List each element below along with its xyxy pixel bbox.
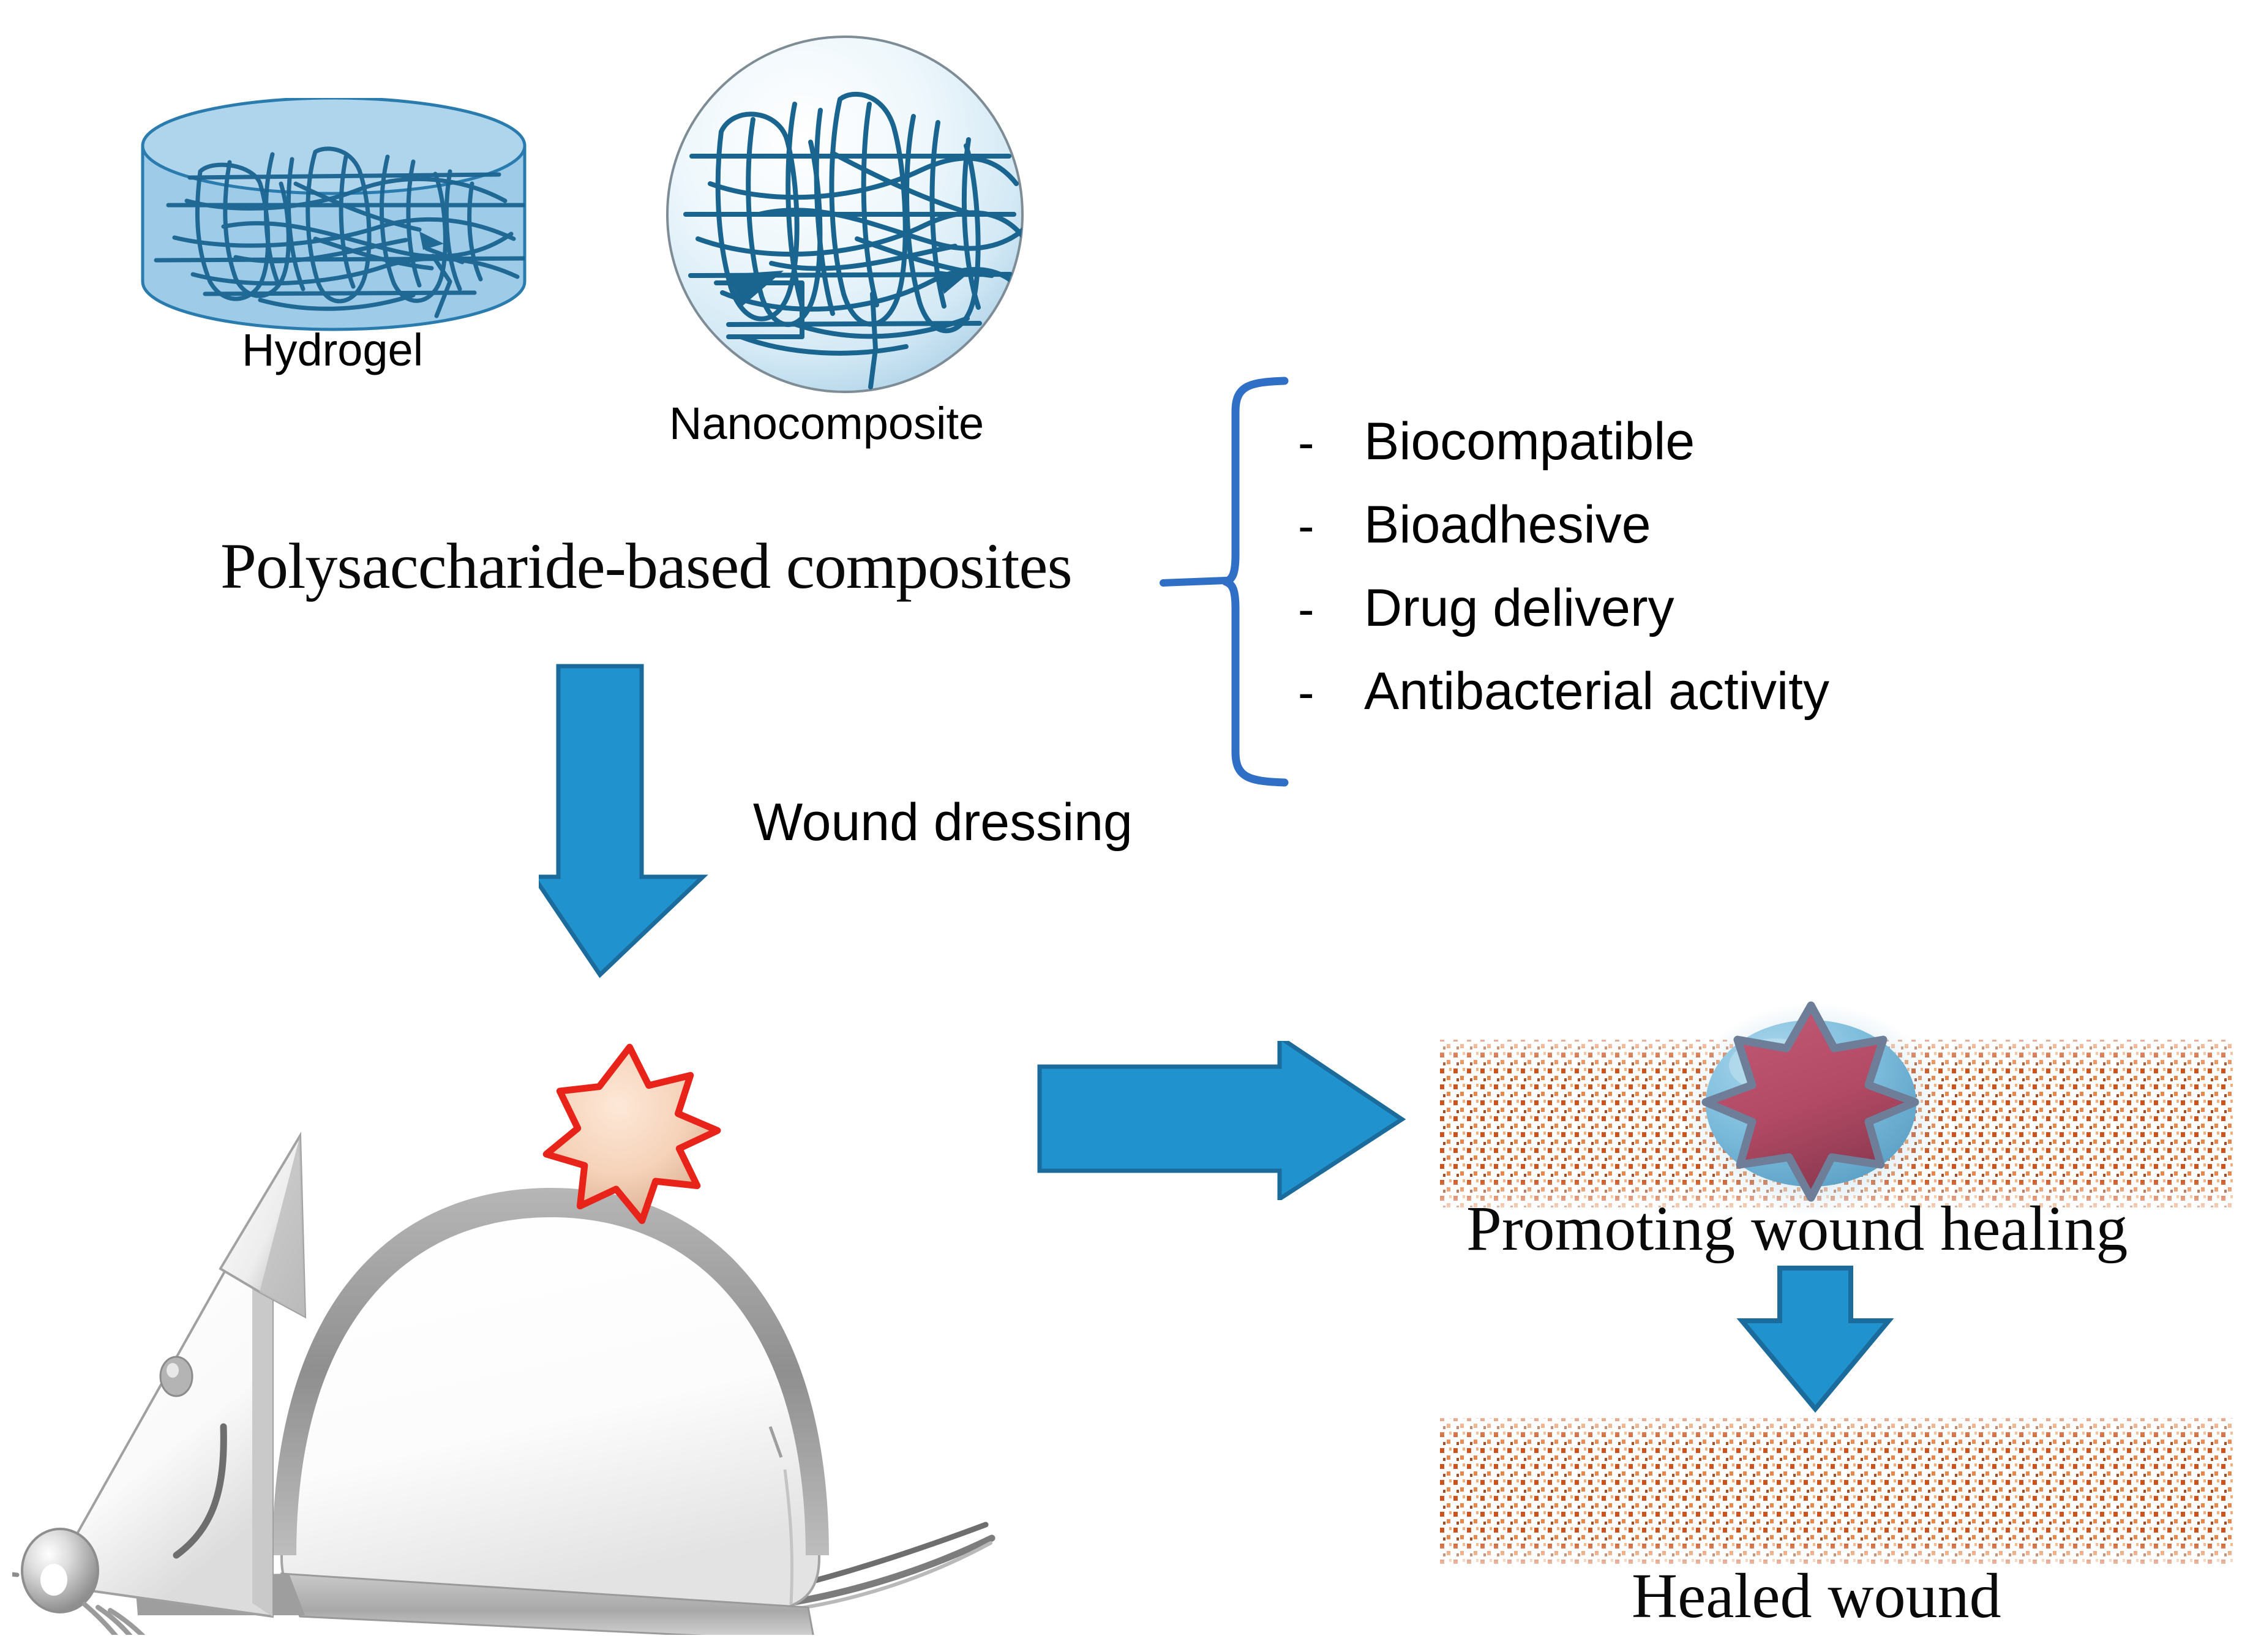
feature-list: - Biocompatible - Bioadhesive - Drug del…	[1298, 411, 2051, 745]
feature-brace	[1157, 367, 1316, 796]
feature-item: - Biocompatible	[1298, 411, 2051, 495]
bullet-dash: -	[1298, 581, 1364, 637]
nanocomposite-illustration	[649, 31, 1041, 410]
right-arrow-to-skin	[1035, 1041, 1414, 1200]
mouse-eye	[160, 1357, 192, 1396]
feature-label: Biocompatible	[1364, 411, 1695, 472]
bullet-dash: -	[1298, 498, 1364, 554]
feature-label: Antibacterial activity	[1364, 661, 1829, 722]
down-arrow-wound-dressing	[539, 661, 722, 980]
page-title: Polysaccharide-based composites	[220, 534, 1072, 599]
down-arrow-to-healed	[1736, 1264, 1895, 1417]
promoting-wound-healing-label: Promoting wound healing	[1466, 1197, 2128, 1261]
laboratory-mouse	[12, 1004, 1114, 1635]
feature-label: Drug delivery	[1364, 578, 1674, 639]
bullet-dash: -	[1298, 415, 1364, 471]
hydrogel-label: Hydrogel	[242, 328, 423, 373]
figure-canvas: Hydrogel	[0, 0, 2242, 1652]
feature-label: Bioadhesive	[1364, 495, 1651, 555]
healed-skin-strip	[1439, 1414, 2235, 1574]
feature-item: - Antibacterial activity	[1298, 661, 2051, 745]
hydrogel-illustration	[132, 98, 536, 337]
healed-wound-label: Healed wound	[1632, 1564, 2001, 1628]
feature-item: - Drug delivery	[1298, 578, 2051, 661]
nanocomposite-label: Nanocomposite	[669, 401, 984, 446]
feature-item: - Bioadhesive	[1298, 495, 2051, 578]
wound-dressing-label: Wound dressing	[753, 796, 1133, 849]
bullet-dash: -	[1298, 664, 1364, 721]
